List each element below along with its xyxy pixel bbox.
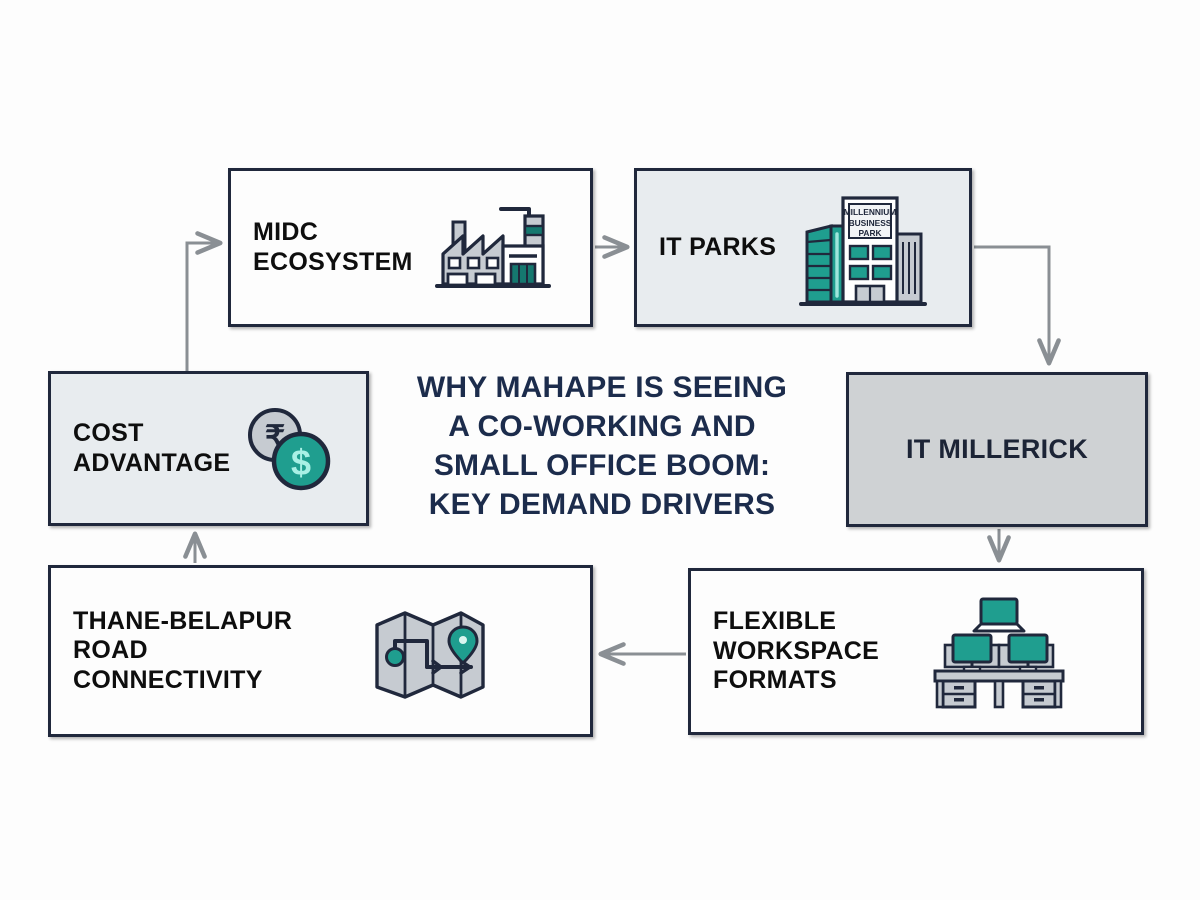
- node-itparks-icon-wrap: MILLENNIUM BUSINESS PARK: [776, 184, 947, 312]
- node-midc-icon-wrap: [413, 196, 568, 300]
- arrow-cost-to-midc: [187, 243, 220, 371]
- node-millerick-label: IT MILLERICK: [906, 434, 1088, 466]
- office-buildings-icon: MILLENNIUM BUSINESS PARK: [797, 184, 927, 312]
- infographic-canvas: WHY MAHAPE IS SEEING A CO-WORKING AND SM…: [0, 0, 1200, 900]
- node-flexible-label: FLEXIBLE WORKSPACE FORMATS: [713, 607, 879, 696]
- node-thane-label: THANE-BELAPUR ROAD CONNECTIVITY: [73, 607, 292, 696]
- sign-line-2: BUSINESS: [848, 218, 891, 228]
- folded-map-icon: [371, 601, 489, 701]
- sign-line-3: PARK: [858, 228, 881, 238]
- node-thane-belapur-road-connectivity[interactable]: THANE-BELAPUR ROAD CONNECTIVITY: [48, 565, 593, 737]
- coins-rupee-dollar-icon: ₹ $: [239, 403, 335, 495]
- arrow-itparks-to-millerick: [974, 247, 1049, 363]
- node-it-parks[interactable]: IT PARKS MILLENNIU: [634, 168, 972, 327]
- sign-line-1: MILLENNIUM: [843, 207, 896, 217]
- node-midc-label: MIDC ECOSYSTEM: [253, 218, 413, 277]
- center-title: WHY MAHAPE IS SEEING A CO-WORKING AND SM…: [372, 368, 832, 524]
- node-flexible-icon-wrap: [879, 593, 1119, 711]
- node-cost-label: COST ADVANTAGE: [73, 419, 230, 478]
- node-cost-advantage[interactable]: COST ADVANTAGE ₹ $: [48, 371, 369, 526]
- node-flexible-workspace-formats[interactable]: FLEXIBLE WORKSPACE FORMATS: [688, 568, 1144, 735]
- node-thane-icon-wrap: [292, 601, 568, 701]
- factory-icon: [429, 196, 551, 300]
- node-midc-ecosystem[interactable]: MIDC ECOSYSTEM: [228, 168, 593, 327]
- dollar-symbol: $: [291, 442, 311, 483]
- node-itparks-label: IT PARKS: [659, 233, 776, 263]
- workstation-desks-icon: [929, 593, 1069, 711]
- node-cost-icon-wrap: ₹ $: [230, 403, 344, 495]
- node-it-millerick[interactable]: IT MILLERICK: [846, 372, 1148, 527]
